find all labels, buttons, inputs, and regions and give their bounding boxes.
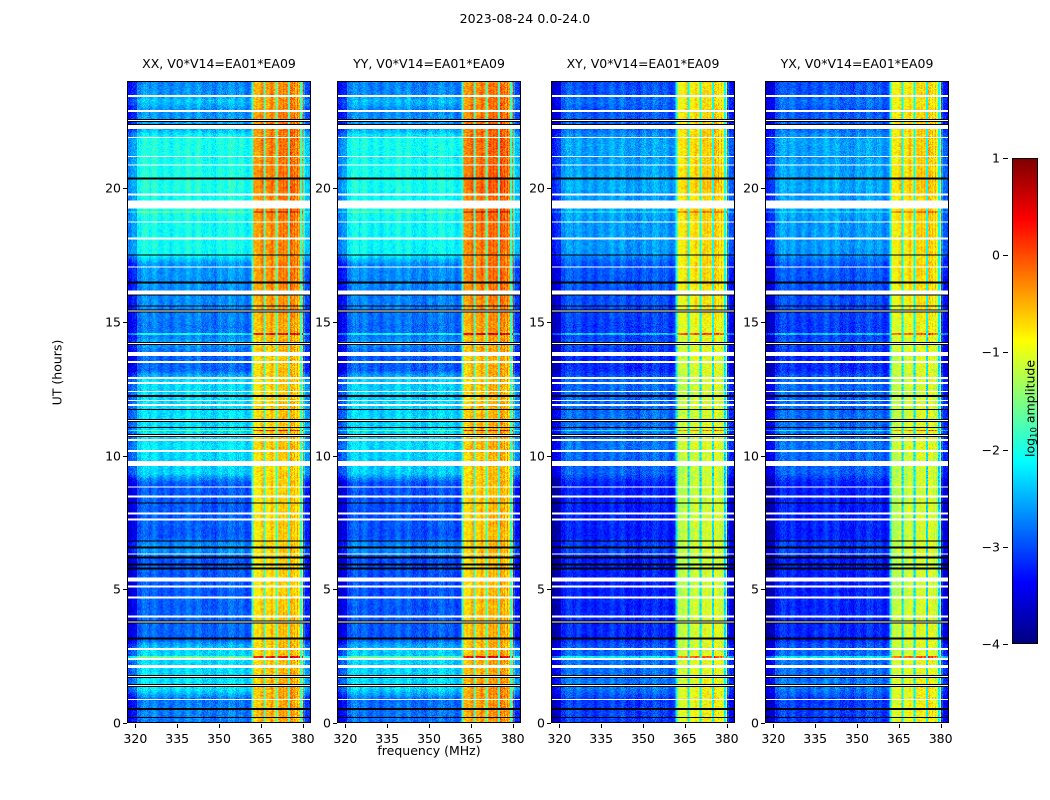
x-tick-label: 335 xyxy=(803,731,827,746)
y-tick-label: 0 xyxy=(537,716,545,731)
x-tick-label: 320 xyxy=(547,731,571,746)
y-tick-mark xyxy=(333,456,337,457)
x-tick-mark xyxy=(429,724,430,728)
y-tick-mark xyxy=(123,456,127,457)
x-tick-mark xyxy=(219,724,220,728)
x-tick-mark xyxy=(815,724,816,728)
y-axis-ticks-xx: 05101520 xyxy=(87,81,127,723)
panel-yy[interactable] xyxy=(337,81,521,723)
y-tick-label: 10 xyxy=(743,448,759,463)
x-tick-label: 335 xyxy=(589,731,613,746)
heatmap-image-yx xyxy=(766,82,948,722)
figure-canvas: 2023-08-24 0.0-24.0 XX, V0*V14=EA01*EA09… xyxy=(0,0,1050,800)
y-tick-mark xyxy=(761,456,765,457)
colorbar-label-subscript: 10 xyxy=(1030,427,1040,438)
y-tick-label: 10 xyxy=(529,448,545,463)
y-tick-label: 15 xyxy=(315,314,331,329)
colorbar-label-base: log xyxy=(1023,438,1038,457)
y-tick-mark xyxy=(123,723,127,724)
x-tick-label: 335 xyxy=(165,731,189,746)
y-tick-label: 15 xyxy=(105,314,121,329)
heatmap-image-xy xyxy=(552,82,734,722)
y-tick-label: 20 xyxy=(743,181,759,196)
x-tick-label: 365 xyxy=(249,731,273,746)
y-axis-ticks-xy: 05101520 xyxy=(511,81,551,723)
x-tick-label: 380 xyxy=(715,731,739,746)
colorbar-tick-label: −1 xyxy=(982,345,1000,360)
y-tick-mark xyxy=(123,322,127,323)
colorbar-tick-mark xyxy=(1003,547,1008,548)
x-axis-label: frequency (MHz) xyxy=(337,743,521,758)
colorbar-label-rest: amplitude xyxy=(1023,360,1038,427)
y-tick-mark xyxy=(123,188,127,189)
heatmap-image-yy xyxy=(338,82,520,722)
x-tick-label: 365 xyxy=(673,731,697,746)
x-tick-mark xyxy=(345,724,346,728)
x-tick-label: 320 xyxy=(761,731,785,746)
figure-suptitle: 2023-08-24 0.0-24.0 xyxy=(0,11,1050,26)
y-tick-mark xyxy=(547,589,551,590)
y-tick-label: 0 xyxy=(323,716,331,731)
x-tick-mark xyxy=(601,724,602,728)
x-tick-label: 350 xyxy=(207,731,231,746)
x-axis-ticks-yx: 320335350365380 xyxy=(765,724,949,746)
colorbar-tick-label: −4 xyxy=(982,637,1000,652)
colorbar-tick-label: 1 xyxy=(992,151,1000,166)
y-tick-label: 5 xyxy=(537,582,545,597)
x-tick-mark xyxy=(387,724,388,728)
x-tick-mark xyxy=(857,724,858,728)
colorbar-tick-mark xyxy=(1003,352,1008,353)
colorbar-tick-label: 0 xyxy=(992,248,1000,263)
x-tick-mark xyxy=(643,724,644,728)
y-tick-label: 10 xyxy=(315,448,331,463)
y-tick-mark xyxy=(333,188,337,189)
x-tick-label: 380 xyxy=(929,731,953,746)
colorbar-tick-label: −2 xyxy=(982,442,1000,457)
y-tick-mark xyxy=(547,456,551,457)
x-tick-mark xyxy=(727,724,728,728)
colorbar-tick-mark xyxy=(1003,450,1008,451)
x-tick-label: 365 xyxy=(887,731,911,746)
y-tick-mark xyxy=(333,589,337,590)
y-tick-label: 5 xyxy=(113,582,121,597)
y-tick-mark xyxy=(761,322,765,323)
colorbar-tick-mark xyxy=(1003,158,1008,159)
y-tick-label: 20 xyxy=(105,181,121,196)
colorbar-tick-mark xyxy=(1003,255,1008,256)
panel-title-xy: XY, V0*V14=EA01*EA09 xyxy=(567,56,720,71)
y-tick-mark xyxy=(123,589,127,590)
y-axis-ticks-yy: 05101520 xyxy=(297,81,337,723)
y-tick-mark xyxy=(333,723,337,724)
x-tick-mark xyxy=(685,724,686,728)
panel-title-yx: YX, V0*V14=EA01*EA09 xyxy=(781,56,934,71)
x-tick-mark xyxy=(303,724,304,728)
x-tick-mark xyxy=(559,724,560,728)
x-tick-mark xyxy=(471,724,472,728)
x-axis-ticks-xx: 320335350365380 xyxy=(127,724,311,746)
panel-xx[interactable] xyxy=(127,81,311,723)
y-tick-mark xyxy=(761,188,765,189)
panel-yx[interactable] xyxy=(765,81,949,723)
x-tick-label: 320 xyxy=(123,731,147,746)
panel-xy[interactable] xyxy=(551,81,735,723)
y-tick-label: 5 xyxy=(323,582,331,597)
x-tick-label: 350 xyxy=(845,731,869,746)
y-tick-mark xyxy=(761,589,765,590)
y-tick-label: 5 xyxy=(751,582,759,597)
colorbar-tick-mark xyxy=(1003,644,1008,645)
y-tick-mark xyxy=(761,723,765,724)
y-axis-ticks-yx: 05101520 xyxy=(725,81,765,723)
y-tick-label: 15 xyxy=(743,314,759,329)
colorbar-label: log10 amplitude xyxy=(1023,309,1038,509)
panel-title-xx: XX, V0*V14=EA01*EA09 xyxy=(142,56,296,71)
x-tick-mark xyxy=(513,724,514,728)
y-tick-mark xyxy=(547,188,551,189)
y-axis-label: UT (hours) xyxy=(50,298,65,448)
y-tick-mark xyxy=(547,723,551,724)
x-tick-mark xyxy=(135,724,136,728)
x-tick-mark xyxy=(941,724,942,728)
y-tick-label: 15 xyxy=(529,314,545,329)
x-axis-ticks-xy: 320335350365380 xyxy=(551,724,735,746)
x-tick-mark xyxy=(177,724,178,728)
x-tick-label: 350 xyxy=(631,731,655,746)
y-tick-label: 20 xyxy=(529,181,545,196)
colorbar-tick-label: −3 xyxy=(982,539,1000,554)
y-tick-label: 10 xyxy=(105,448,121,463)
y-tick-label: 0 xyxy=(751,716,759,731)
colorbar-ticks: −4−3−2−101 xyxy=(962,158,1008,644)
y-tick-mark xyxy=(547,322,551,323)
x-tick-mark xyxy=(773,724,774,728)
x-tick-mark xyxy=(899,724,900,728)
heatmap-image-xx xyxy=(128,82,310,722)
y-tick-label: 20 xyxy=(315,181,331,196)
x-tick-label: 380 xyxy=(291,731,315,746)
x-tick-mark xyxy=(261,724,262,728)
y-tick-mark xyxy=(333,322,337,323)
panel-title-yy: YY, V0*V14=EA01*EA09 xyxy=(353,56,505,71)
y-tick-label: 0 xyxy=(113,716,121,731)
